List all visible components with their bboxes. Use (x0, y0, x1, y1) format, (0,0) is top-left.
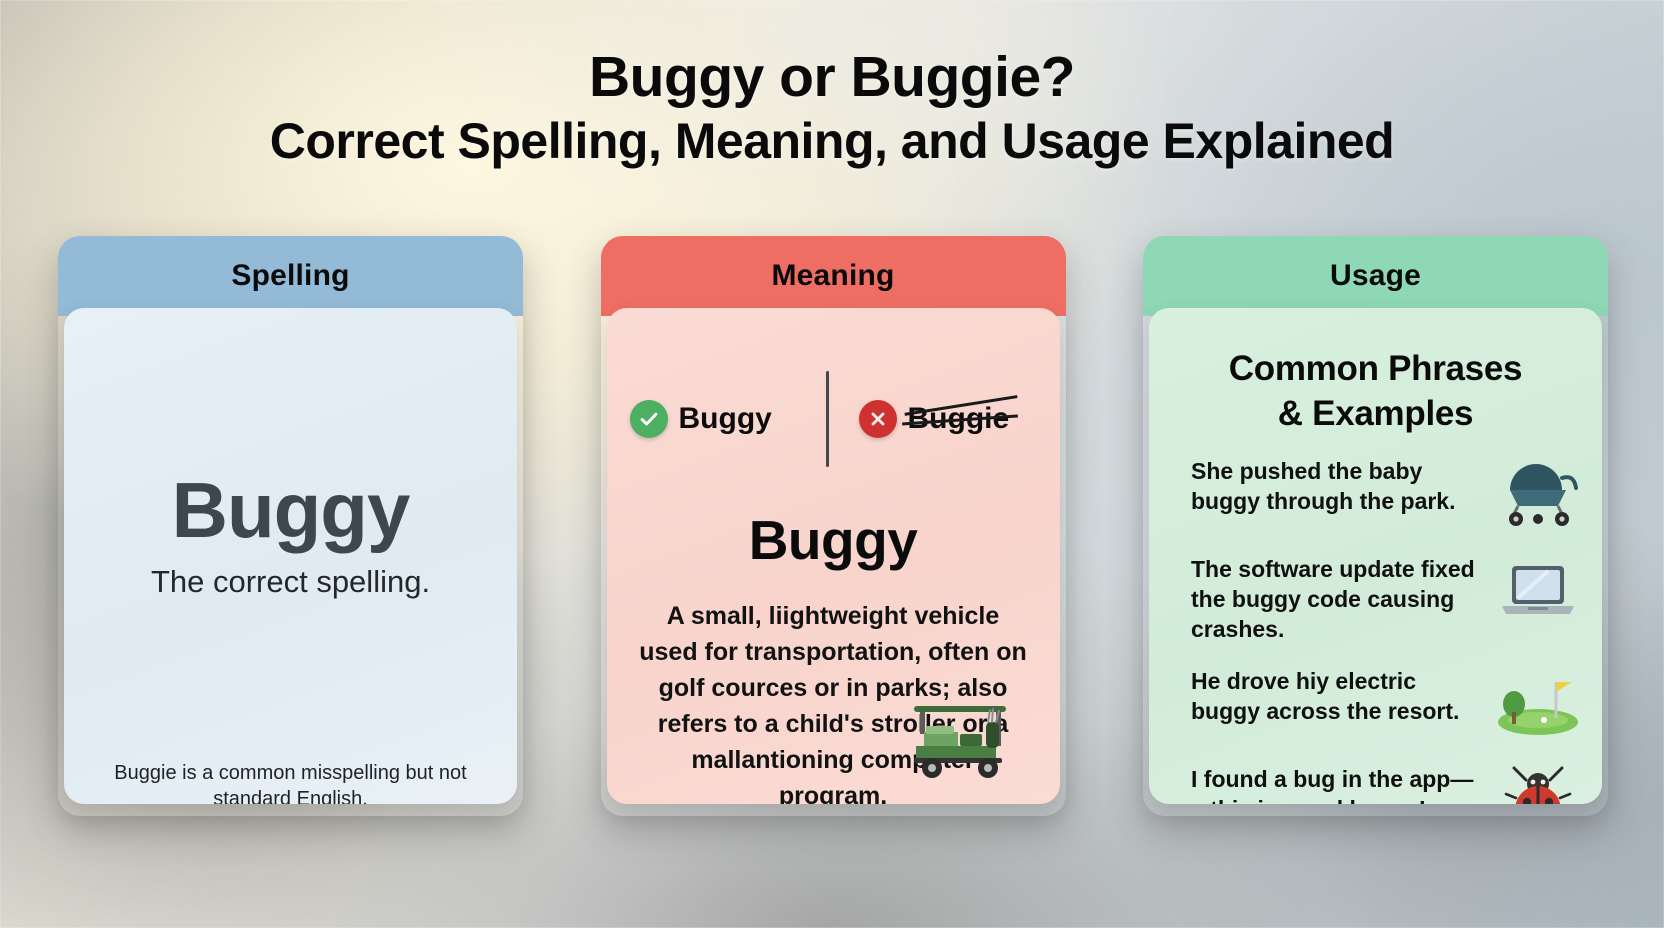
spelling-word: Buggy (172, 470, 410, 550)
usage-example-text: She pushed the baby buggy through the pa… (1191, 456, 1492, 516)
spelling-subtitle: The correct spelling. (151, 564, 430, 600)
spelling-note: Buggie is a common misspelling but not s… (104, 760, 477, 804)
page-title: Buggy or Buggie? Correct Spelling, Meani… (0, 44, 1664, 172)
comparison-divider (826, 371, 829, 467)
correct-spelling-item: Buggy (608, 400, 820, 438)
incorrect-spelling-label: Buggie (908, 402, 1010, 436)
golf-course-icon (1492, 666, 1584, 740)
usage-example-text: I found a bug in the app—_ this is a rea… (1191, 764, 1492, 804)
laptop-icon (1492, 554, 1584, 628)
usage-heading-line-1: Common Phrases (1149, 346, 1602, 391)
usage-example-list: She pushed the baby buggy through the pa… (1191, 456, 1584, 804)
card-usage-header: Usage (1143, 236, 1608, 316)
card-usage-header-label: Usage (1330, 259, 1421, 293)
title-line-2: Correct Spelling, Meaning, and Usage Exp… (0, 110, 1664, 172)
ladybug-icon (1492, 764, 1584, 804)
check-circle-icon (630, 400, 668, 438)
incorrect-spelling-item: Buggie (835, 400, 1059, 438)
card-usage-body: Common Phrases & Examples She pushed the… (1149, 308, 1602, 804)
usage-heading: Common Phrases & Examples (1149, 346, 1602, 436)
correct-spelling-label: Buggy (679, 402, 772, 436)
cross-circle-icon (859, 400, 897, 438)
title-line-1: Buggy or Buggie? (0, 44, 1664, 110)
card-usage: Usage Common Phrases & Examples She push… (1143, 236, 1608, 816)
card-spelling-header-label: Spelling (231, 259, 349, 293)
list-item: She pushed the baby buggy through the pa… (1191, 456, 1584, 532)
usage-heading-line-2: & Examples (1149, 391, 1602, 436)
list-item: The software update fixed the buggy code… (1191, 554, 1584, 644)
spelling-comparison: Buggy Buggie (607, 382, 1060, 456)
card-meaning: Meaning Buggy (601, 236, 1066, 816)
card-meaning-header: Meaning (601, 236, 1066, 316)
card-row: Spelling Buggy The correct spelling. Bug… (58, 236, 1608, 816)
golf-cart-icon (900, 688, 1030, 788)
baby-stroller-icon (1492, 456, 1584, 530)
card-meaning-header-label: Meaning (771, 259, 894, 293)
card-spelling-header: Spelling (58, 236, 523, 316)
card-meaning-body: Buggy Buggie Buggy A small, liightweight… (607, 308, 1060, 804)
card-spelling-body: Buggy The correct spelling. Buggie is a … (64, 308, 517, 804)
usage-example-text: He drove hiy electric buggy across the r… (1191, 666, 1492, 726)
usage-example-text: The software update fixed the buggy code… (1191, 554, 1492, 644)
meaning-word: Buggy (607, 508, 1060, 572)
list-item: I found a bug in the app—_ this is a rea… (1191, 764, 1584, 804)
list-item: He drove hiy electric buggy across the r… (1191, 666, 1584, 742)
card-spelling: Spelling Buggy The correct spelling. Bug… (58, 236, 523, 816)
